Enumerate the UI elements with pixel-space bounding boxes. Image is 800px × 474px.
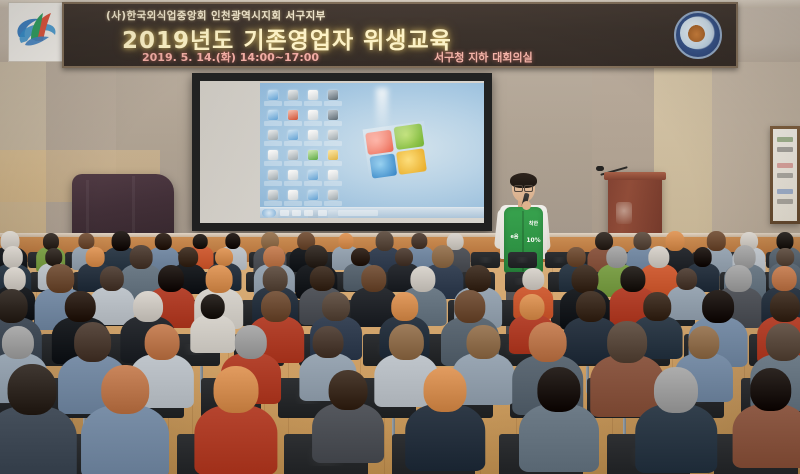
icon-glyph bbox=[308, 110, 318, 120]
desktop-icon-9[interactable] bbox=[264, 129, 282, 148]
attendee-head bbox=[607, 321, 647, 362]
calligraphy-artwork bbox=[773, 129, 797, 221]
attendee-head bbox=[47, 264, 74, 293]
desktop-icon-11[interactable] bbox=[304, 129, 322, 148]
projection-screen-surface bbox=[200, 81, 484, 223]
attendee bbox=[0, 364, 77, 474]
icon-label bbox=[324, 161, 342, 166]
desktop-icon-23[interactable] bbox=[304, 189, 322, 208]
attendee-head bbox=[0, 289, 28, 323]
attendee-head bbox=[133, 291, 163, 322]
icon-label bbox=[324, 101, 342, 106]
icon-label bbox=[284, 201, 302, 206]
attendee-head bbox=[328, 370, 367, 410]
icon-glyph bbox=[308, 150, 318, 160]
icon-glyph bbox=[308, 190, 318, 200]
desktop-icon-12[interactable] bbox=[324, 129, 342, 148]
icon-glyph bbox=[288, 110, 298, 120]
desktop-icon-22[interactable] bbox=[284, 189, 302, 208]
attendee-head bbox=[100, 266, 124, 291]
desktop-icon-24[interactable] bbox=[324, 189, 342, 208]
attendee-head bbox=[263, 246, 285, 269]
desktop-icon-13[interactable] bbox=[264, 149, 282, 168]
attendee bbox=[519, 367, 599, 474]
icon-glyph bbox=[268, 150, 278, 160]
icon-glyph bbox=[328, 150, 338, 160]
attendee-head bbox=[776, 248, 794, 266]
desktop-icon-16[interactable] bbox=[324, 149, 342, 168]
desktop-icon-6[interactable] bbox=[284, 109, 302, 128]
event-banner: (사)한국외식업중앙회 인천광역시지회 서구지부 2019년도 기존영업자 위생… bbox=[62, 2, 738, 68]
desktop-icon-21[interactable] bbox=[264, 189, 282, 208]
attendee-head bbox=[576, 291, 606, 323]
attendee-head bbox=[305, 245, 327, 268]
attendee bbox=[732, 368, 800, 474]
attendee-head bbox=[410, 266, 435, 292]
icon-glyph bbox=[268, 90, 278, 100]
icon-glyph bbox=[268, 170, 278, 180]
icon-label bbox=[264, 161, 282, 166]
icon-label bbox=[304, 181, 322, 186]
attendee-head bbox=[145, 324, 180, 360]
icon-label bbox=[284, 161, 302, 166]
desktop-icon-20[interactable] bbox=[324, 169, 342, 188]
attendee-head bbox=[693, 247, 712, 266]
attendee bbox=[194, 366, 277, 474]
organization-swoosh-logo bbox=[8, 2, 66, 62]
desktop-icon-1[interactable] bbox=[264, 89, 282, 108]
attendee-head bbox=[351, 248, 369, 267]
attendee-head bbox=[235, 325, 267, 359]
attendee-head bbox=[528, 322, 567, 362]
photo-scene: (사)한국외식업중앙회 인천광역시지회 서구지부 2019년도 기존영업자 위생… bbox=[0, 0, 800, 474]
icon-label bbox=[264, 121, 282, 126]
icon-label bbox=[324, 141, 342, 146]
icon-label bbox=[284, 101, 302, 106]
vest-text-top: 착한 bbox=[526, 221, 541, 227]
attendee-head bbox=[74, 322, 112, 361]
attendee-head bbox=[389, 324, 423, 360]
icon-glyph bbox=[308, 170, 318, 180]
icon-label bbox=[304, 201, 322, 206]
desktop-icon-15[interactable] bbox=[304, 149, 322, 168]
desktop-icon-2[interactable] bbox=[284, 89, 302, 108]
glasses-icon bbox=[514, 185, 533, 190]
attendee-head bbox=[2, 246, 22, 267]
attendee-head bbox=[43, 233, 59, 250]
attendee-head bbox=[770, 291, 800, 322]
icon-glyph bbox=[268, 130, 278, 140]
attendee-head bbox=[454, 290, 485, 323]
attendee-head bbox=[523, 268, 544, 290]
attendee-head bbox=[395, 248, 413, 267]
icon-glyph bbox=[308, 130, 318, 140]
icon-label bbox=[284, 141, 302, 146]
icon-label bbox=[264, 201, 282, 206]
icon-label bbox=[304, 121, 322, 126]
icon-label bbox=[264, 101, 282, 106]
attendee-torso bbox=[636, 404, 718, 473]
icon-glyph bbox=[308, 90, 318, 100]
icon-glyph bbox=[268, 190, 278, 200]
windows-taskbar[interactable] bbox=[260, 207, 484, 218]
icon-glyph bbox=[328, 90, 338, 100]
attendee-head bbox=[424, 367, 467, 412]
deer-icon bbox=[688, 25, 705, 42]
desktop-icon-5[interactable] bbox=[264, 109, 282, 128]
attendee bbox=[636, 367, 718, 474]
attendee-head bbox=[465, 265, 491, 292]
attendee-head bbox=[263, 266, 288, 292]
attendee-head bbox=[572, 265, 599, 293]
desktop-icon-10[interactable] bbox=[284, 129, 302, 148]
icon-label bbox=[324, 201, 342, 206]
attendee-head bbox=[65, 291, 95, 323]
attendee-head bbox=[467, 325, 500, 359]
attendee bbox=[312, 370, 384, 471]
attendee-head bbox=[158, 265, 184, 292]
attendee-torso bbox=[312, 403, 384, 464]
framed-calligraphy bbox=[770, 126, 800, 224]
attendee-head bbox=[205, 265, 232, 293]
deer-crest-emblem bbox=[674, 11, 722, 59]
attendee-head bbox=[2, 326, 34, 359]
attendee bbox=[406, 367, 486, 474]
attendee-head bbox=[750, 368, 792, 411]
attendee-head bbox=[772, 266, 797, 292]
attendee-head bbox=[312, 326, 343, 358]
icon-label bbox=[284, 181, 302, 186]
icon-glyph bbox=[288, 90, 298, 100]
icon-label bbox=[304, 161, 322, 166]
desktop-icon-14[interactable] bbox=[284, 149, 302, 168]
attendee-head bbox=[644, 292, 672, 321]
attendee-head bbox=[216, 248, 234, 267]
attendee-torso bbox=[0, 406, 77, 474]
attendee-torso bbox=[732, 404, 800, 469]
icon-label bbox=[284, 121, 302, 126]
desktop-icon-17[interactable] bbox=[264, 169, 282, 188]
projection-screen bbox=[192, 73, 492, 231]
attendee-head bbox=[361, 265, 386, 291]
attendee-head bbox=[520, 294, 545, 320]
icon-label bbox=[304, 101, 322, 106]
icon-glyph bbox=[288, 190, 298, 200]
attendee-torso bbox=[81, 405, 169, 474]
icon-label bbox=[304, 141, 322, 146]
desktop-icon-8[interactable] bbox=[324, 109, 342, 128]
desktop-icon-19[interactable] bbox=[304, 169, 322, 188]
presenter-hand bbox=[522, 201, 531, 210]
icon-glyph bbox=[328, 130, 338, 140]
attendee-torso bbox=[406, 404, 486, 471]
attendee-torso bbox=[519, 404, 599, 471]
attendee-head bbox=[766, 323, 800, 361]
desktop-icon-18[interactable] bbox=[284, 169, 302, 188]
attendee-head bbox=[213, 366, 258, 413]
attendee-head bbox=[200, 294, 225, 320]
icon-label bbox=[324, 121, 342, 126]
wall-panel bbox=[654, 62, 712, 252]
icon-glyph bbox=[328, 190, 338, 200]
icon-glyph bbox=[288, 130, 298, 140]
desktop-icon-7[interactable] bbox=[304, 109, 322, 128]
attendee-head bbox=[225, 233, 240, 249]
attendee-head bbox=[676, 268, 698, 290]
banner-place: 서구청 지하 대회의실 bbox=[434, 49, 533, 65]
icon-label bbox=[324, 181, 342, 186]
desktop-icon-3[interactable] bbox=[304, 89, 322, 108]
icon-glyph bbox=[288, 170, 298, 180]
desktop-icon-4[interactable] bbox=[324, 89, 342, 108]
attendee-head bbox=[8, 364, 57, 415]
icon-glyph bbox=[288, 150, 298, 160]
attendee-torso bbox=[194, 405, 277, 474]
vest-text-side: e음 bbox=[507, 233, 522, 240]
attendee-head bbox=[725, 265, 751, 292]
attendee-head bbox=[86, 247, 105, 266]
attendee-head bbox=[391, 292, 419, 321]
attendee-head bbox=[3, 267, 25, 290]
attendee-head bbox=[101, 365, 149, 414]
windows-logo-icon bbox=[365, 123, 429, 181]
attendee-head bbox=[261, 291, 291, 322]
attendee-head bbox=[688, 326, 719, 359]
vest-text-mid: 10% bbox=[526, 237, 541, 244]
icon-label bbox=[264, 141, 282, 146]
icon-label bbox=[264, 181, 282, 186]
icon-glyph bbox=[328, 110, 338, 120]
attendee-head bbox=[537, 367, 580, 412]
attendee-head bbox=[322, 292, 350, 321]
icon-glyph bbox=[268, 110, 278, 120]
swoosh-icon bbox=[9, 3, 65, 61]
attendee-head bbox=[654, 367, 698, 413]
attendee-head bbox=[310, 266, 334, 291]
seat bbox=[508, 252, 537, 268]
start-button-icon[interactable] bbox=[262, 209, 276, 217]
attendee bbox=[81, 365, 169, 474]
attendee-head bbox=[702, 290, 734, 323]
icon-glyph bbox=[328, 170, 338, 180]
desktop-icon-grid[interactable] bbox=[264, 89, 342, 218]
banner-datetime: 2019. 5. 14.(화) 14:00~17:00 bbox=[142, 49, 319, 65]
attendee-head bbox=[620, 266, 645, 292]
projected-desktop bbox=[260, 83, 484, 218]
